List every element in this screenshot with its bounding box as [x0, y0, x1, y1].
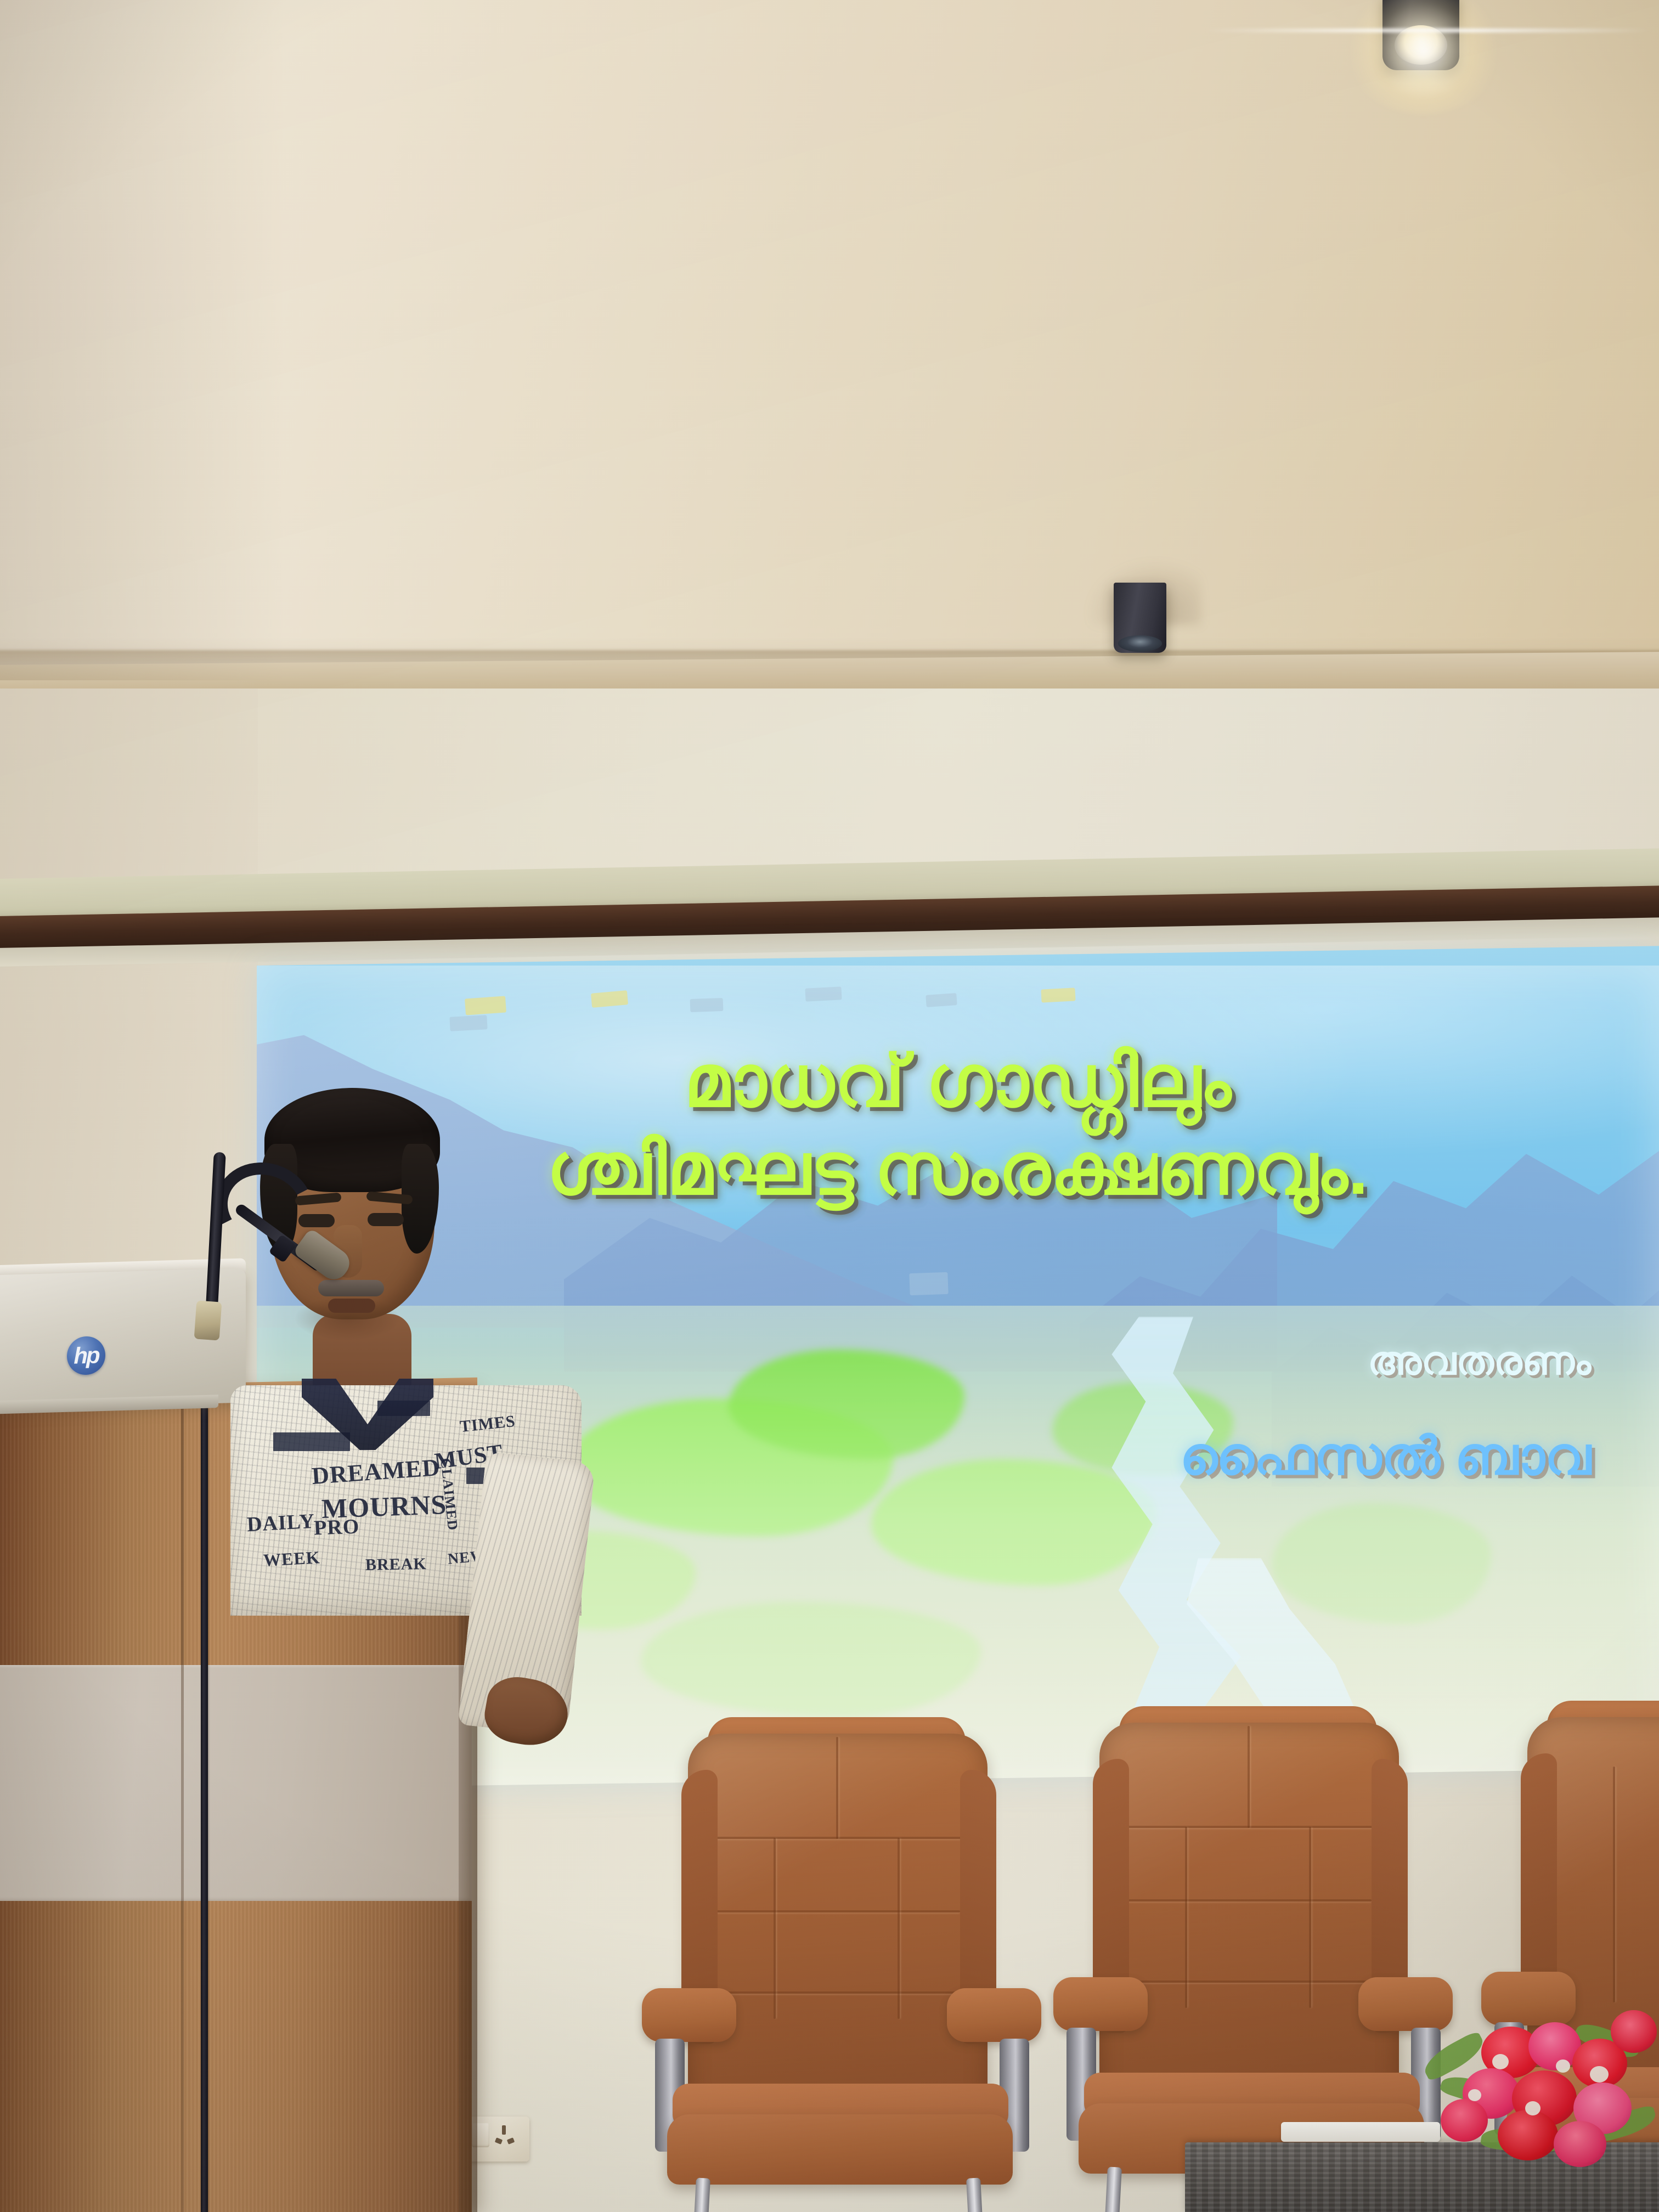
chair-seam [1129, 1980, 1368, 1983]
microphone-cable [201, 1317, 208, 2212]
chair-seam [836, 1737, 838, 1839]
bouquet-filler [1556, 2059, 1570, 2073]
speaker-eye-right [368, 1213, 404, 1226]
slide-chip [926, 993, 957, 1007]
bouquet-filler [1590, 2066, 1609, 2083]
chair-seam [1126, 1899, 1372, 1901]
shirt-print-word: DAILY [246, 1511, 315, 1535]
flower-bouquet [1415, 1991, 1659, 2156]
socket-earth-pin [502, 2125, 506, 2135]
podium-inset-band [0, 1665, 472, 1901]
chair-seat [667, 2114, 1013, 2185]
chair-armrest-right [947, 1988, 1041, 2042]
slide-chip [465, 996, 506, 1015]
slide-credit-label: അവതരണം [658, 1339, 1591, 1385]
chair-seam [898, 1838, 900, 2019]
spotlight-lens [1118, 635, 1162, 652]
slide-presenter-name: ഫൈസൽ ബാവ [603, 1426, 1591, 1488]
shirt-print-word: PRO [313, 1516, 359, 1539]
presentation-photo-scene: മാധവ് ഗാഡ്ഗിലും ശ്ചിമഘട്ട സംരക്ഷണവും. അവ… [0, 0, 1659, 2212]
slide-chip [690, 998, 724, 1012]
bouquet-flower [1498, 2110, 1558, 2160]
chair-armrest-left [642, 1988, 736, 2042]
chair-seam [774, 1838, 776, 2019]
slide-chip [909, 1272, 948, 1295]
socket-neutral-pin [507, 2137, 515, 2145]
bouquet-flower [1611, 2010, 1657, 2053]
bouquet-flower [1554, 2121, 1606, 2167]
chair[interactable] [631, 1717, 1048, 2212]
shirt-print-word: DREAMED [311, 1455, 441, 1488]
chair-seam [1248, 1726, 1250, 1828]
shirt-print-block [273, 1432, 350, 1451]
bouquet-flower [1441, 2099, 1488, 2142]
ceiling-shadow [0, 0, 285, 680]
speaker-moustache [318, 1280, 384, 1296]
bouquet-filler [1492, 2054, 1509, 2069]
bouquet-filler [1525, 2101, 1541, 2115]
hp-logo-text: hp [74, 1344, 98, 1367]
chair-seam [714, 1910, 960, 1912]
chair-seam [1185, 1827, 1187, 2008]
spotlight-off-icon [1114, 583, 1166, 653]
shirt-print-word: TIMES [459, 1413, 516, 1435]
speaker-person: DREAMED MOURNS DAILY PRO MUST CLAIMED TI… [236, 1078, 576, 1605]
socket-live-pin [495, 2137, 503, 2145]
shirt-print-word: WEEK [263, 1548, 320, 1568]
speaker-mouth [328, 1299, 375, 1313]
chair-seam [1309, 1827, 1311, 2008]
chair-seam [718, 1991, 957, 1994]
slide-chip [805, 986, 842, 1001]
slide-chip [449, 1015, 487, 1031]
microphone-connector [194, 1300, 222, 1340]
slide-chip [1041, 988, 1075, 1002]
chair-armrest-left [1053, 1977, 1148, 2031]
bouquet-filler [1468, 2089, 1481, 2101]
spotlight-lit-icon [1383, 0, 1459, 76]
podium-seam [181, 1392, 184, 2212]
chair-seam [1613, 1767, 1615, 2002]
lens-flare [1201, 29, 1651, 32]
shirt-print-word: BREAK [365, 1556, 427, 1573]
